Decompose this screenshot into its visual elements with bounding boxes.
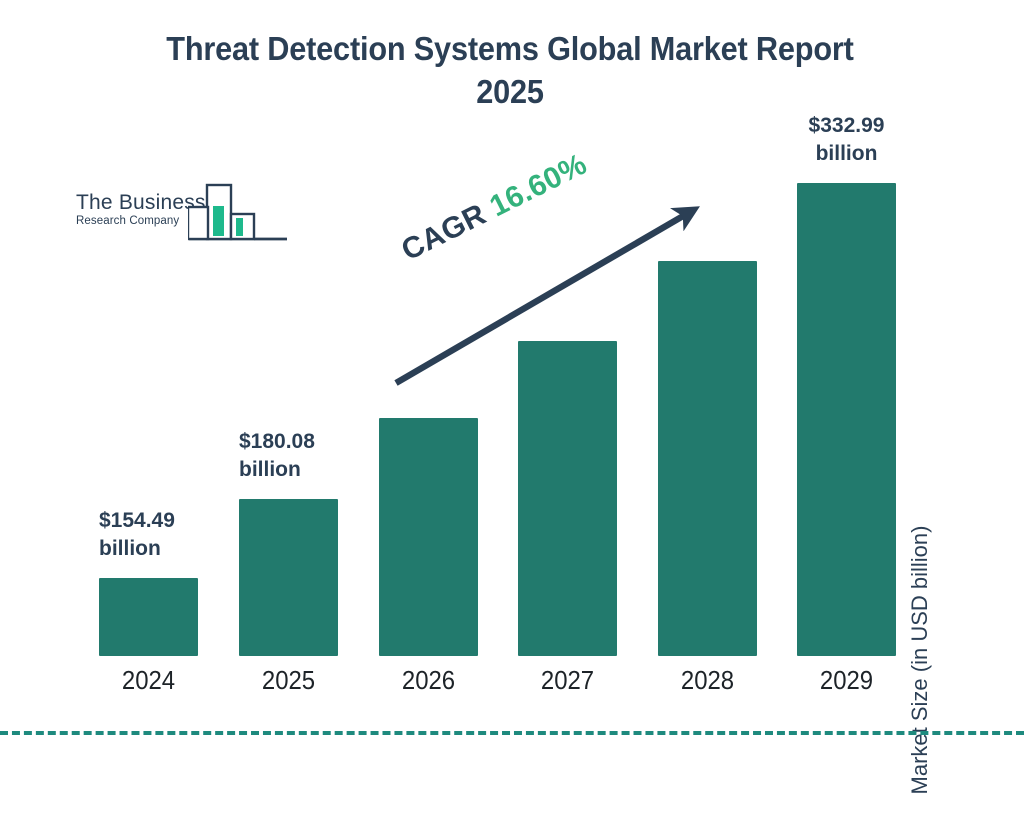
bar-2027[interactable] bbox=[518, 341, 617, 656]
bar-2026[interactable] bbox=[379, 418, 478, 656]
chart-canvas: Threat Detection Systems Global Market R… bbox=[0, 0, 1024, 768]
bar-value-number-2029: $332.99 bbox=[793, 112, 900, 139]
y-axis-title-text: Market Size (in USD billion) bbox=[907, 480, 933, 840]
bar-2025[interactable] bbox=[239, 499, 338, 656]
bar-value-label-2024: $154.49 billion bbox=[99, 507, 198, 562]
bar-group-2028[interactable]: 2028 bbox=[658, 261, 757, 656]
bar-group-2025[interactable]: $180.08 billion 2025 bbox=[239, 499, 338, 656]
bars-layer: $154.49 billion 2024 $180.08 billion 202… bbox=[0, 0, 1024, 768]
bar-value-unit-2029: billion bbox=[793, 140, 900, 167]
y-axis-title: Market Size (in USD billion) bbox=[937, 300, 971, 660]
bar-2028[interactable] bbox=[658, 261, 757, 656]
bar-group-2024[interactable]: $154.49 billion 2024 bbox=[99, 578, 198, 656]
bar-value-label-2025: $180.08 billion bbox=[239, 428, 338, 483]
bar-group-2029[interactable]: $332.99 billion 2029 bbox=[797, 183, 896, 656]
plot-area: $154.49 billion 2024 $180.08 billion 202… bbox=[0, 0, 1024, 768]
x-axis-label-2027: 2027 bbox=[509, 665, 626, 696]
bar-value-unit-2025: billion bbox=[239, 456, 338, 483]
bottom-divider bbox=[0, 731, 1024, 735]
bar-value-label-2029: $332.99 billion bbox=[793, 112, 900, 167]
x-axis-label-2029: 2029 bbox=[788, 665, 905, 696]
x-axis-label-2025: 2025 bbox=[230, 665, 347, 696]
bar-group-2027[interactable]: 2027 bbox=[518, 341, 617, 656]
x-axis-label-2026: 2026 bbox=[370, 665, 487, 696]
bar-2029[interactable] bbox=[797, 183, 896, 656]
bar-value-number-2024: $154.49 bbox=[99, 507, 198, 534]
x-axis-label-2028: 2028 bbox=[649, 665, 766, 696]
bar-2024[interactable] bbox=[99, 578, 198, 656]
bar-group-2026[interactable]: 2026 bbox=[379, 418, 478, 656]
x-axis-label-2024: 2024 bbox=[90, 665, 207, 696]
bar-value-number-2025: $180.08 bbox=[239, 428, 338, 455]
bar-value-unit-2024: billion bbox=[99, 535, 198, 562]
